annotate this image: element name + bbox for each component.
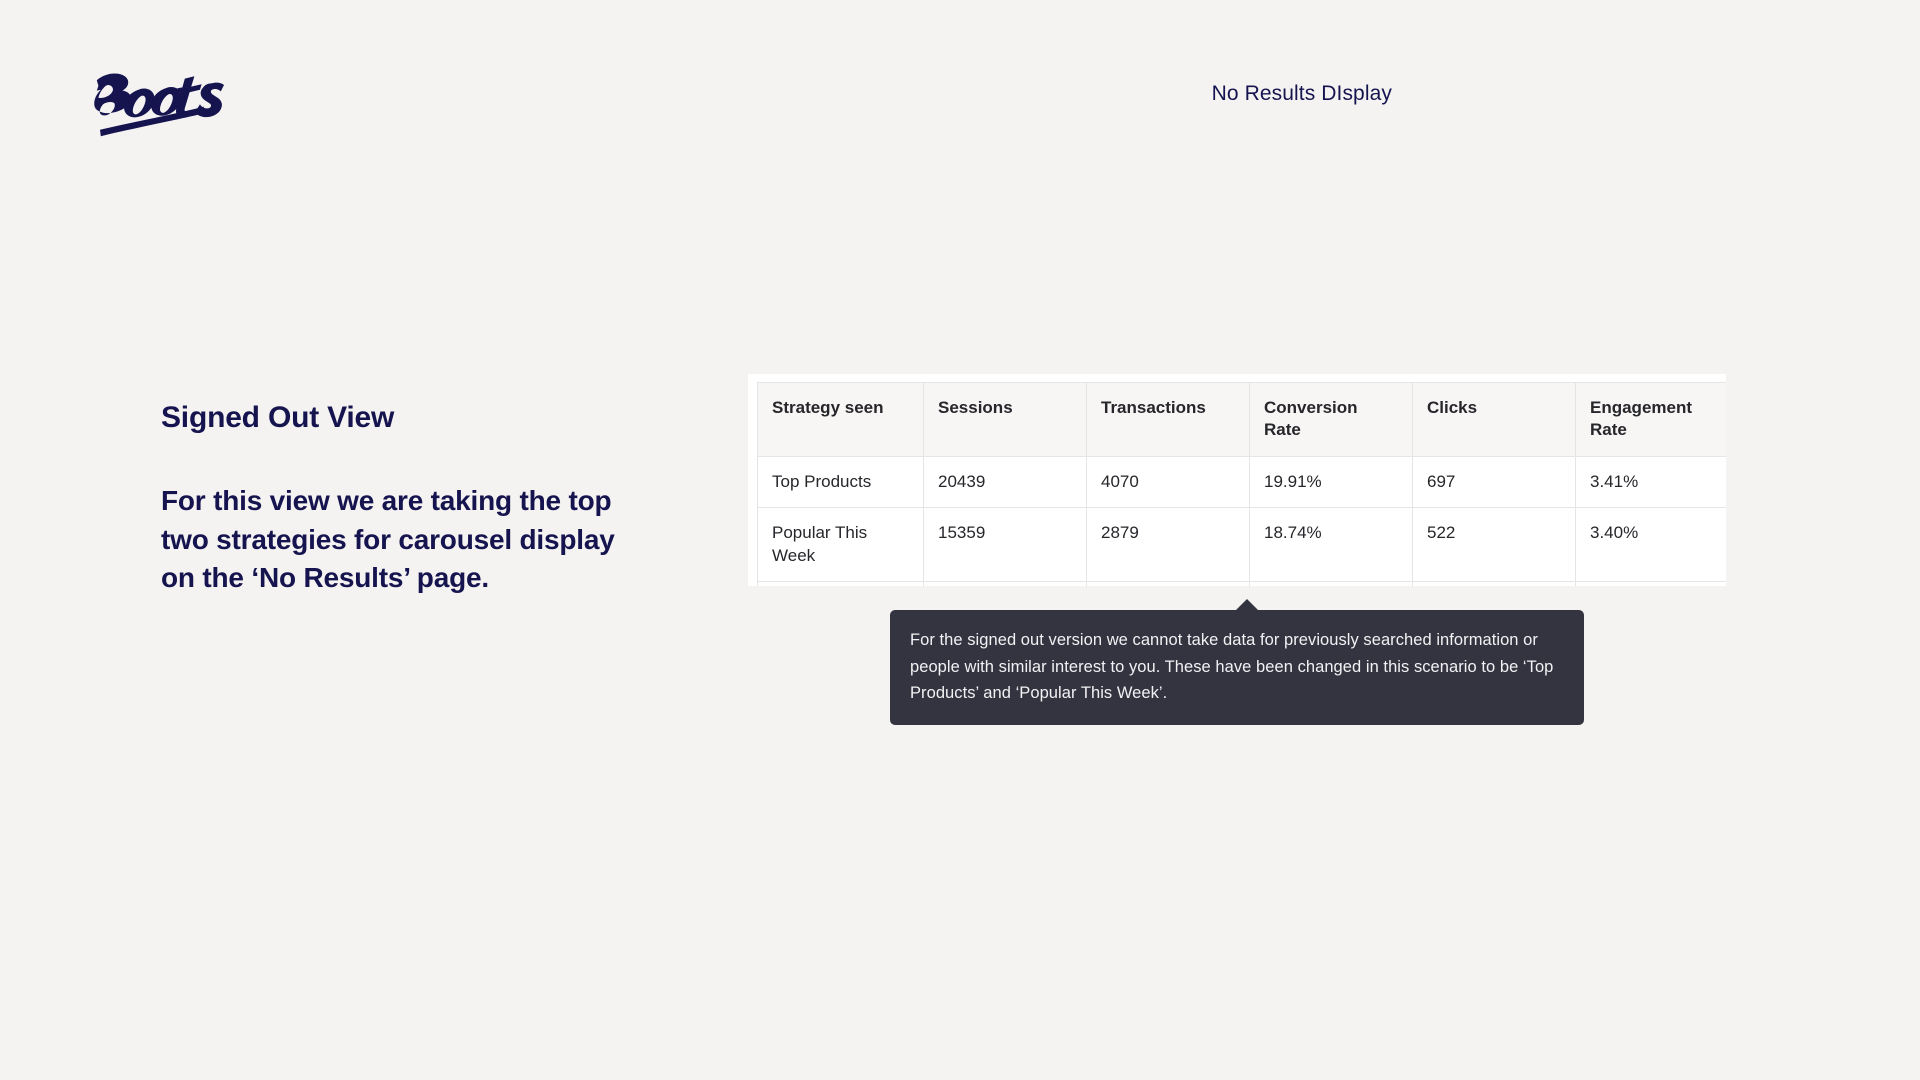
- metrics-table-frame: Strategy seen Sessions Transactions Conv…: [748, 374, 1726, 586]
- copy-block: Signed Out View For this view we are tak…: [161, 400, 631, 598]
- table-header-row: Strategy seen Sessions Transactions Conv…: [758, 383, 1727, 457]
- cell-strategy: Popular This Week: [758, 508, 924, 582]
- cell-conversion-rate: 19.91%: [1250, 456, 1413, 507]
- column-header-engagement-rate[interactable]: Engagement Rate: [1576, 383, 1727, 457]
- table-row-clipped: [758, 582, 1727, 586]
- boots-wordmark-glyphs: [94, 73, 224, 117]
- cell-engagement-rate: 3.40%: [1576, 508, 1727, 582]
- cell-strategy: Top Products: [758, 456, 924, 507]
- metrics-table: Strategy seen Sessions Transactions Conv…: [757, 382, 1726, 586]
- cell-clicks: 697: [1413, 456, 1576, 507]
- page-title: Signed Out View: [161, 400, 631, 436]
- cell-engagement-rate: 3.41%: [1576, 456, 1727, 507]
- cell-conversion-rate: 18.74%: [1250, 508, 1413, 582]
- page-description: For this view we are taking the top two …: [161, 482, 631, 598]
- cell-sessions: 15359: [924, 508, 1087, 582]
- column-header-sessions[interactable]: Sessions: [924, 383, 1087, 457]
- table-row: Top Products 20439 4070 19.91% 697 3.41%: [758, 456, 1727, 507]
- cell-clicks: 522: [1413, 508, 1576, 582]
- tooltip-arrow-icon: [1235, 599, 1259, 611]
- cell-transactions: 4070: [1087, 456, 1250, 507]
- page-label: No Results DIsplay: [1212, 82, 1392, 106]
- column-header-conversion-rate[interactable]: Conversion Rate: [1250, 383, 1413, 457]
- table-row: Popular This Week 15359 2879 18.74% 522 …: [758, 508, 1727, 582]
- column-header-transactions[interactable]: Transactions: [1087, 383, 1250, 457]
- tooltip-text: For the signed out version we cannot tak…: [910, 627, 1564, 707]
- boots-logo[interactable]: [72, 62, 232, 140]
- cell-transactions: 2879: [1087, 508, 1250, 582]
- column-header-clicks[interactable]: Clicks: [1413, 383, 1576, 457]
- cell-sessions: 20439: [924, 456, 1087, 507]
- column-header-strategy-seen[interactable]: Strategy seen: [758, 383, 924, 457]
- annotation-tooltip: For the signed out version we cannot tak…: [890, 610, 1584, 725]
